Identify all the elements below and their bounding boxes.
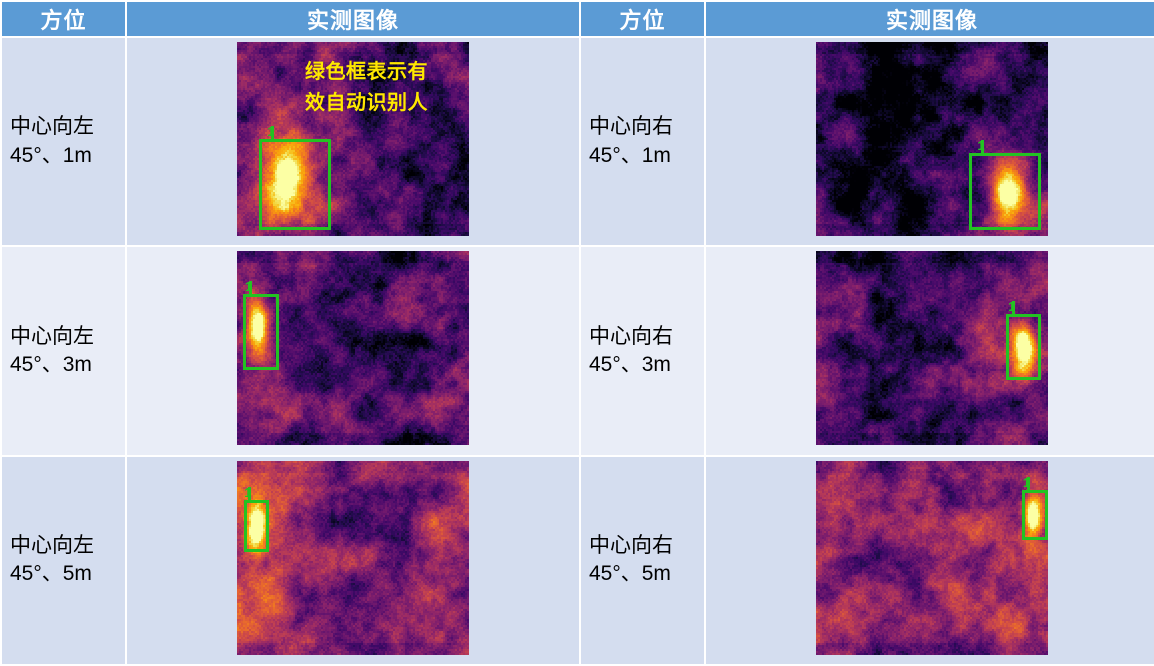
thermal-detection-table-page: 方位 实测图像 方位 实测图像 中心向左 45°、1m 1 中心向右 45°、1… bbox=[0, 0, 1154, 666]
header-row: 方位 实测图像 方位 实测图像 bbox=[2, 2, 1154, 36]
thermal-image-cell: 1 bbox=[127, 247, 579, 454]
detection-box-label: 1 bbox=[245, 280, 252, 293]
thermal-image-container: 1 bbox=[816, 42, 1048, 236]
azimuth-label: 中心向左 45°、5m bbox=[2, 457, 125, 664]
header-image-left: 实测图像 bbox=[127, 2, 579, 36]
thermal-image bbox=[237, 251, 469, 445]
header-azimuth-right: 方位 bbox=[581, 2, 704, 36]
table-row: 中心向左 45°、3m 1 中心向右 45°、3m 1 bbox=[2, 247, 1154, 454]
thermal-image-container: 1 bbox=[237, 251, 469, 445]
thermal-image bbox=[816, 42, 1048, 236]
table-body: 中心向左 45°、1m 1 中心向右 45°、1m 1 中心向左 45°、3m … bbox=[2, 38, 1154, 664]
detection-box-label: 1 bbox=[977, 139, 984, 152]
thermal-image bbox=[237, 461, 469, 655]
thermal-image-container: 1 bbox=[237, 461, 469, 655]
thermal-image-cell: 1 bbox=[127, 457, 579, 664]
azimuth-label: 中心向左 45°、1m bbox=[2, 38, 125, 245]
thermal-image-container: 1 bbox=[816, 251, 1048, 445]
detection-box-label: 1 bbox=[244, 486, 251, 499]
azimuth-label: 中心向右 45°、3m bbox=[581, 247, 704, 454]
detection-box-label: 1 bbox=[1008, 300, 1015, 313]
thermal-image-container: 1 bbox=[816, 461, 1048, 655]
azimuth-label: 中心向左 45°、3m bbox=[2, 247, 125, 454]
table-row: 中心向左 45°、5m 1 中心向右 45°、5m 1 bbox=[2, 457, 1154, 664]
thermal-image-cell: 1 bbox=[706, 457, 1154, 664]
table-row: 中心向左 45°、1m 1 中心向右 45°、1m 1 bbox=[2, 38, 1154, 245]
thermal-image bbox=[816, 251, 1048, 445]
table-header: 方位 实测图像 方位 实测图像 bbox=[2, 2, 1154, 36]
header-azimuth-left: 方位 bbox=[2, 2, 125, 36]
thermal-image-cell: 1 bbox=[706, 247, 1154, 454]
azimuth-label: 中心向右 45°、5m bbox=[581, 457, 704, 664]
thermal-image bbox=[816, 461, 1048, 655]
header-image-right: 实测图像 bbox=[706, 2, 1154, 36]
thermal-image-cell: 1 bbox=[706, 38, 1154, 245]
detection-box-label: 1 bbox=[267, 125, 274, 138]
azimuth-label: 中心向右 45°、1m bbox=[581, 38, 704, 245]
measurement-table: 方位 实测图像 方位 实测图像 中心向左 45°、1m 1 中心向右 45°、1… bbox=[0, 0, 1154, 666]
detection-box-label: 1 bbox=[1023, 476, 1030, 489]
green-box-annotation: 绿色框表示有 效自动识别人 bbox=[305, 57, 428, 119]
